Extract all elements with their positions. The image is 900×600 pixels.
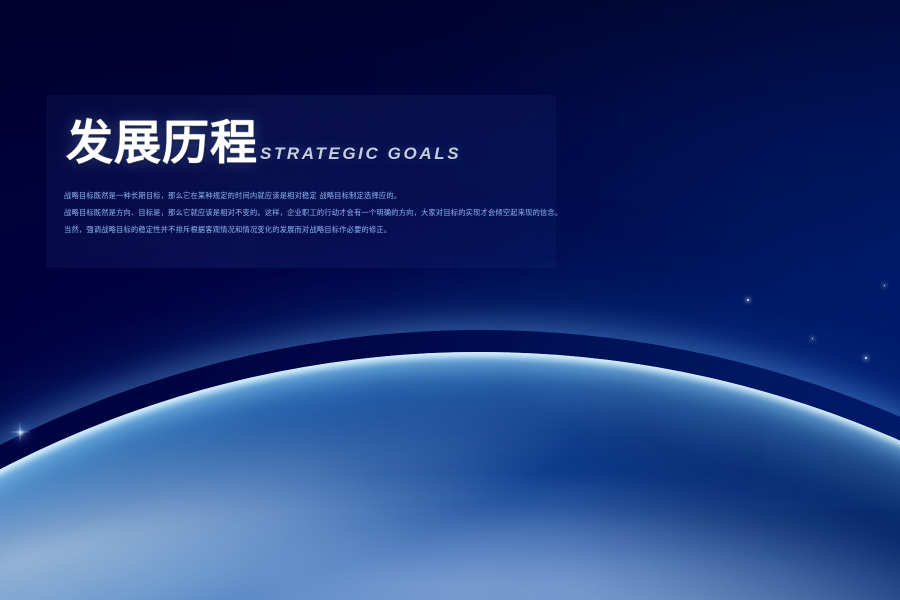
body-line: 战略目标既然是一种长期目标，那么它在某种规定的时间内就应该是相对稳定 战略目标制… (64, 188, 534, 205)
headline-group: 发展历程 STRATEGIC GOALS (66, 120, 461, 167)
page-subtitle: STRATEGIC GOALS (260, 144, 461, 164)
earth-graphic (0, 0, 900, 600)
body-line: 战略目标既然是方向、目标是，那么它就应该是相对不变的。这样，企业职工的行动才会有… (64, 205, 534, 222)
banner-stage: 发展历程 STRATEGIC GOALS 战略目标既然是一种长期目标，那么它在某… (0, 0, 900, 600)
page-title: 发展历程 (66, 120, 258, 167)
body-paragraph: 战略目标既然是一种长期目标，那么它在某种规定的时间内就应该是相对稳定 战略目标制… (64, 188, 534, 238)
earth-atmosphere-rim (0, 233, 900, 600)
body-line: 当然，强调战略目标的稳定性并不排斥根据客观情况和情况变化的发展而对战略目标作必要… (64, 222, 534, 239)
